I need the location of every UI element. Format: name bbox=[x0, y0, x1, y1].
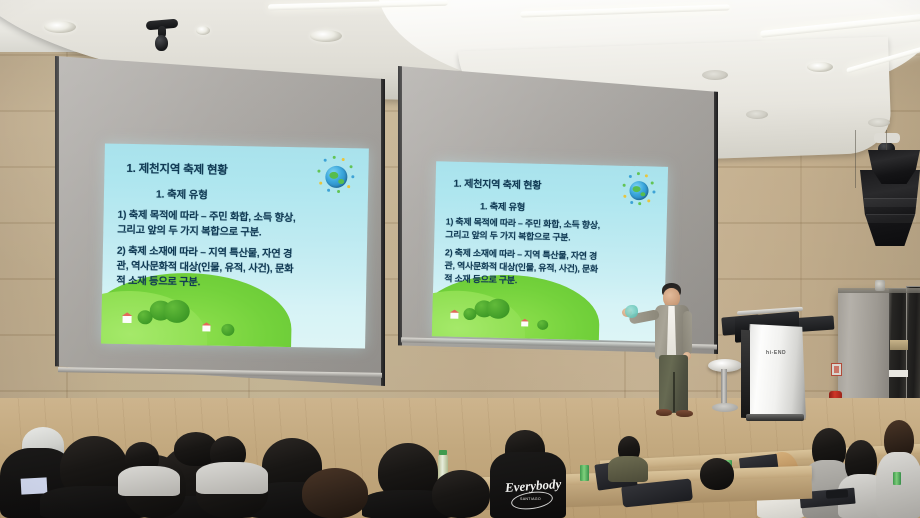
globe-figure-8 bbox=[327, 189, 330, 192]
recessed-downlight-8 bbox=[868, 118, 890, 127]
audience-head-f8 bbox=[432, 470, 490, 518]
globe-right-landmass-2 bbox=[640, 192, 645, 196]
drink-can-2 bbox=[893, 472, 901, 485]
fire-extinguisher-sign bbox=[831, 363, 842, 376]
globe-landmass-2 bbox=[338, 179, 344, 184]
dome-camera-right-base bbox=[874, 133, 900, 143]
lecture-hall-photo: 1. 제천지역 축제 현황 1. 축제 유형 1) 축제 목적에 따라 – 주민… bbox=[0, 0, 920, 518]
globe-figure-9 bbox=[319, 182, 322, 185]
globe-right-figure-8 bbox=[630, 201, 633, 204]
drink-can-3 bbox=[580, 465, 589, 481]
recessed-downlight-3 bbox=[196, 26, 210, 35]
globe-figure-5 bbox=[351, 175, 354, 178]
recessed-downlight-1 bbox=[44, 21, 76, 33]
rack-top-device bbox=[875, 280, 885, 291]
globe-right-figure-9 bbox=[623, 195, 626, 198]
podium-body bbox=[744, 324, 806, 420]
globe-figure-3 bbox=[342, 158, 345, 161]
globe-figure-6 bbox=[347, 185, 350, 188]
screen-right-left-edge bbox=[398, 66, 402, 354]
podium-side-stripe bbox=[741, 330, 750, 418]
speaker-suspension-wire-1 bbox=[855, 130, 856, 188]
sticker-note bbox=[21, 477, 48, 494]
recessed-downlight-6 bbox=[807, 62, 833, 72]
globe-right-figure-2 bbox=[637, 172, 640, 175]
water-bottle-1-cap bbox=[439, 450, 447, 455]
globe-right-figure-7 bbox=[638, 202, 641, 205]
globe-right-landmass-1 bbox=[632, 186, 640, 192]
globe-figure-1 bbox=[324, 159, 327, 162]
globe-figure-4 bbox=[350, 165, 353, 168]
slide-title: 1. 제천지역 축제 현황 bbox=[126, 160, 228, 178]
slide-right-house-1 bbox=[450, 313, 458, 319]
slide-projection-left: 1. 제천지역 축제 현황 1. 축제 유형 1) 축제 목적에 따라 – 주민… bbox=[101, 143, 369, 348]
podium-base bbox=[746, 414, 804, 421]
slide-right-title: 1. 제천지역 축제 현황 bbox=[453, 175, 541, 192]
security-camera-lens bbox=[155, 35, 168, 51]
globe-figure-2 bbox=[333, 156, 336, 159]
screen-right-right-edge bbox=[714, 66, 718, 354]
slide-right-subtitle: 1. 축제 유형 bbox=[480, 198, 525, 213]
rack-label-tag bbox=[889, 370, 908, 377]
slide-line-5: 적 소재 등으로 구분. bbox=[116, 272, 200, 289]
slide-house-1 bbox=[123, 316, 132, 323]
slide-line-2: 그리고 앞의 두 가지 복합으로 구분. bbox=[117, 221, 261, 239]
bar-stool-base bbox=[712, 403, 738, 412]
recessed-downlight-4 bbox=[702, 70, 728, 80]
speaker-band-2 bbox=[866, 214, 916, 223]
presenter-shoe-left bbox=[656, 409, 672, 416]
screen-left-edge bbox=[55, 56, 59, 386]
podium-brand-label: hi-END bbox=[766, 350, 786, 356]
globe-right-figure-4 bbox=[651, 181, 654, 184]
globe-figure-7 bbox=[337, 190, 340, 193]
recessed-downlight-2 bbox=[310, 30, 342, 42]
slide-right-line-2: 그리고 앞의 두 가지 복합으로 구분. bbox=[445, 227, 570, 243]
globe-landmass-1 bbox=[329, 172, 338, 179]
globe-figure-10 bbox=[317, 170, 320, 173]
rack-module bbox=[890, 340, 908, 350]
recessed-downlight-7 bbox=[746, 110, 768, 119]
slide-right-house-2 bbox=[521, 321, 528, 326]
presenter-shoe-right bbox=[676, 410, 693, 417]
globe-right-figure-5 bbox=[652, 190, 655, 193]
globe-right-figure-10 bbox=[623, 184, 626, 187]
speaker-band-1 bbox=[864, 198, 918, 207]
screen-right-edge bbox=[381, 56, 385, 386]
hoodie-subtext: SANTIAGO bbox=[520, 497, 546, 502]
audience-body-m2 bbox=[196, 462, 268, 494]
globe-right-figure-6 bbox=[647, 199, 650, 202]
audience-body-r3 bbox=[876, 452, 920, 518]
presenter-right-arm bbox=[683, 311, 692, 355]
presenter-pointer-object bbox=[625, 305, 638, 318]
audience-head-f7 bbox=[302, 468, 368, 518]
audience-head-f11 bbox=[700, 458, 734, 490]
slide-subtitle: 1. 축제 유형 bbox=[156, 186, 208, 202]
phone-on-desk[interactable] bbox=[826, 489, 849, 499]
audience-body-m1 bbox=[118, 466, 180, 496]
slide-house-2 bbox=[202, 325, 210, 331]
audience-body-f10 bbox=[608, 456, 648, 482]
slide-right-line-5: 적 소재 등으로 구분. bbox=[444, 271, 517, 286]
presenter-leg-gap bbox=[673, 372, 675, 412]
globe-right-figure-1 bbox=[629, 175, 632, 178]
globe-right-figure-3 bbox=[645, 174, 648, 177]
